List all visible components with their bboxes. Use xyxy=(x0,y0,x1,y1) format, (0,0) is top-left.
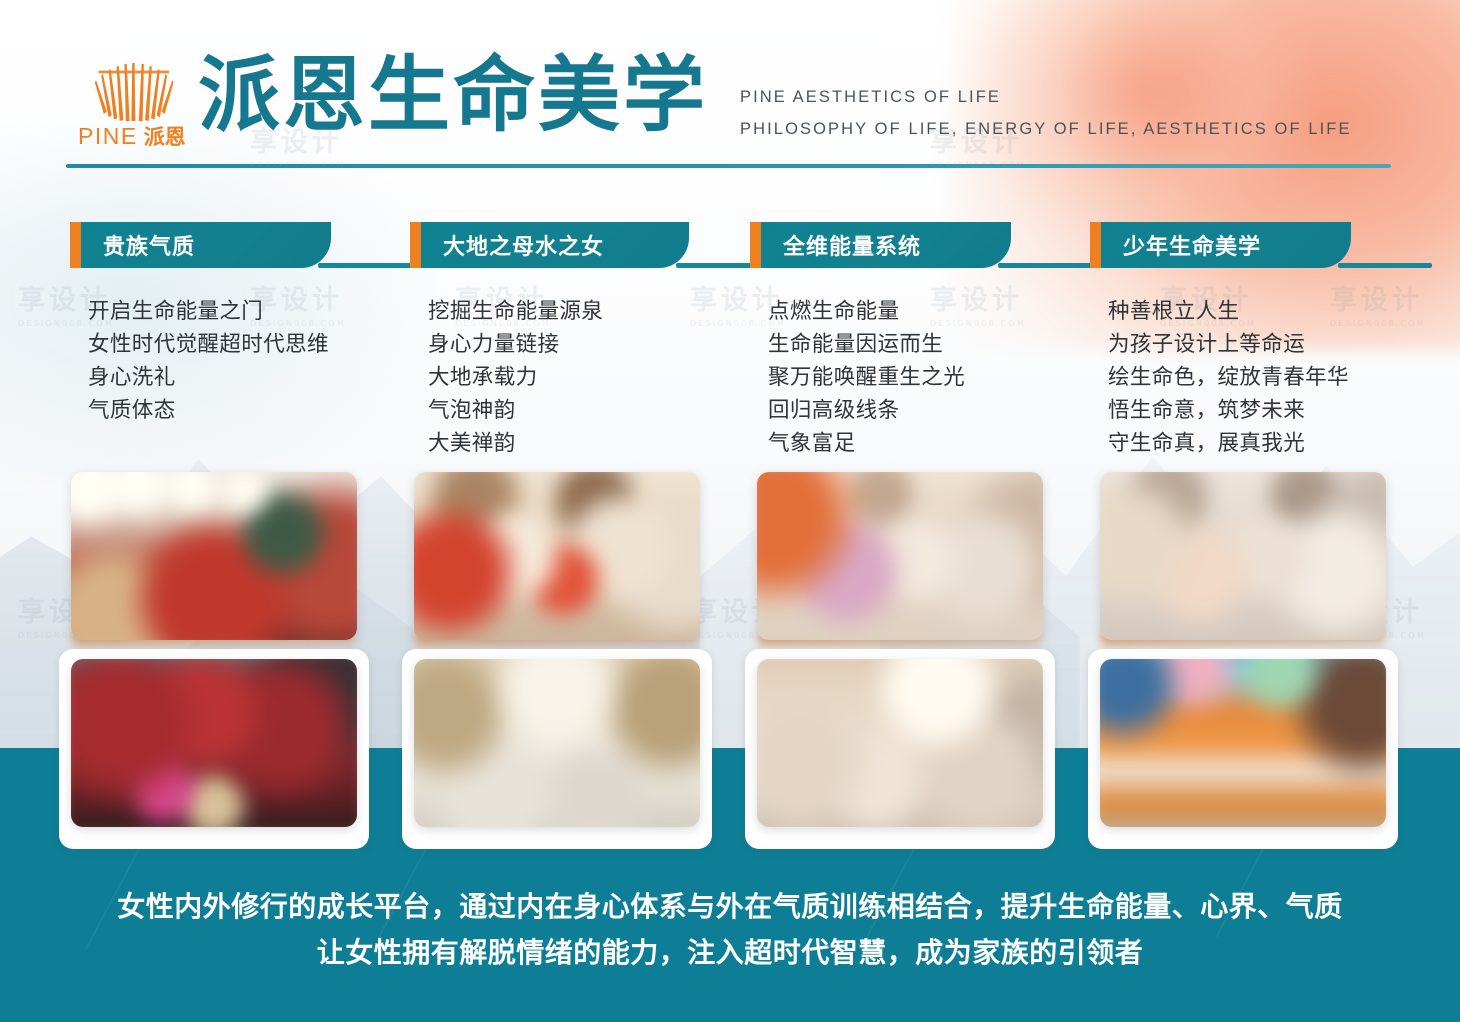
column-header-badge[interactable]: 大地之母水之女 xyxy=(410,222,752,268)
column-text-line: 身心洗礼 xyxy=(88,361,412,394)
badge-tail-line xyxy=(676,263,752,268)
badge-tail-line xyxy=(1338,263,1432,268)
photo-image xyxy=(757,472,1043,640)
column-1: 贵族气质开启生命能量之门女性时代觉醒超时代思维身心洗礼气质体态 xyxy=(70,222,412,427)
stage-red-dresses-crowd-photo[interactable] xyxy=(71,472,357,640)
hall-arms-raised-crowd-photo[interactable] xyxy=(757,659,1043,827)
photo-image xyxy=(1100,659,1386,827)
children-cheering-classroom-photo[interactable] xyxy=(1100,472,1386,640)
badge-accent-bar xyxy=(70,222,81,268)
column-text-line: 大美禅韵 xyxy=(428,427,752,460)
column-header-badge[interactable]: 全维能量系统 xyxy=(750,222,1092,268)
column-text-list: 种善根立人生为孩子设计上等命运绘生命色，绽放青春年华悟生命意，筑梦未来守生命真，… xyxy=(1090,295,1432,460)
column-text-line: 种善根立人生 xyxy=(1108,295,1432,328)
column-text-list: 挖掘生命能量源泉身心力量链接大地承载力气泡神韵大美禅韵 xyxy=(410,295,752,460)
women-arms-raised-class-photo[interactable] xyxy=(757,472,1043,640)
footer-line-1: 女性内外修行的成长平台，通过内在身心体系与外在气质训练相结合，提升生命能量、心界… xyxy=(0,884,1460,930)
column-text-line: 点燃生命能量 xyxy=(768,295,1092,328)
column-3: 全维能量系统点燃生命能量生命能量因运而生聚万能唤醒重生之光回归高级线条气象富足 xyxy=(750,222,1092,460)
badge-accent-bar xyxy=(410,222,421,268)
column-text-line: 绘生命色，绽放青春年华 xyxy=(1108,361,1432,394)
badge-label: 全维能量系统 xyxy=(783,229,921,261)
badge-label: 大地之母水之女 xyxy=(443,229,604,261)
auditorium-white-seated-audience-photo[interactable] xyxy=(414,659,700,827)
footer-line-2: 让女性拥有解脱情绪的能力，注入超时代智慧，成为家族的引领者 xyxy=(0,930,1460,976)
column-4: 少年生命美学种善根立人生为孩子设计上等命运绘生命色，绽放青春年华悟生命意，筑梦未… xyxy=(1090,222,1432,460)
column-text-list: 开启生命能量之门女性时代觉醒超时代思维身心洗礼气质体态 xyxy=(70,295,412,427)
column-text-line: 挖掘生命能量源泉 xyxy=(428,295,752,328)
column-text-line: 气质体态 xyxy=(88,394,412,427)
photo-image xyxy=(71,659,357,827)
column-text-line: 气象富足 xyxy=(768,427,1092,460)
badge-tail-line xyxy=(998,263,1092,268)
badge-label: 贵族气质 xyxy=(103,229,195,261)
badge-label: 少年生命美学 xyxy=(1123,229,1261,261)
column-text-line: 守生命真，展真我光 xyxy=(1108,427,1432,460)
badge-body: 少年生命美学 xyxy=(1101,222,1351,268)
large-group-red-arms-raised-photo[interactable] xyxy=(71,659,357,827)
poster-canvas: 享设计DESIGN008.COM享设计DESIGN008.COM享设计DESIG… xyxy=(0,0,1460,1022)
photo-image xyxy=(71,472,357,640)
column-header-badge[interactable]: 少年生命美学 xyxy=(1090,222,1432,268)
column-text-line: 开启生命能量之门 xyxy=(88,295,412,328)
column-header-badge[interactable]: 贵族气质 xyxy=(70,222,412,268)
badge-accent-bar xyxy=(1090,222,1101,268)
footer-text-block: 女性内外修行的成长平台，通过内在身心体系与外在气质训练相结合，提升生命能量、心界… xyxy=(0,884,1460,976)
column-text-line: 为孩子设计上等命运 xyxy=(1108,328,1432,361)
column-2: 大地之母水之女挖掘生命能量源泉身心力量链接大地承载力气泡神韵大美禅韵 xyxy=(410,222,752,460)
column-text-line: 气泡神韵 xyxy=(428,394,752,427)
badge-body: 贵族气质 xyxy=(81,222,331,268)
column-text-line: 女性时代觉醒超时代思维 xyxy=(88,328,412,361)
badge-body: 大地之母水之女 xyxy=(421,222,689,268)
column-text-line: 聚万能唤醒重生之光 xyxy=(768,361,1092,394)
badge-body: 全维能量系统 xyxy=(761,222,1011,268)
women-applauding-indoor-photo[interactable] xyxy=(414,472,700,640)
column-text-line: 大地承载力 xyxy=(428,361,752,394)
column-text-list: 点燃生命能量生命能量因运而生聚万能唤醒重生之光回归高级线条气象富足 xyxy=(750,295,1092,460)
badge-tail-line xyxy=(318,263,412,268)
photo-image xyxy=(1100,472,1386,640)
photo-image xyxy=(757,659,1043,827)
photo-image xyxy=(414,472,700,640)
column-text-line: 生命能量因运而生 xyxy=(768,328,1092,361)
column-text-line: 悟生命意，筑梦未来 xyxy=(1108,394,1432,427)
column-text-line: 回归高级线条 xyxy=(768,394,1092,427)
column-text-line: 身心力量链接 xyxy=(428,328,752,361)
photo-image xyxy=(414,659,700,827)
orange-uniform-group-stage-photo[interactable] xyxy=(1100,659,1386,827)
badge-accent-bar xyxy=(750,222,761,268)
